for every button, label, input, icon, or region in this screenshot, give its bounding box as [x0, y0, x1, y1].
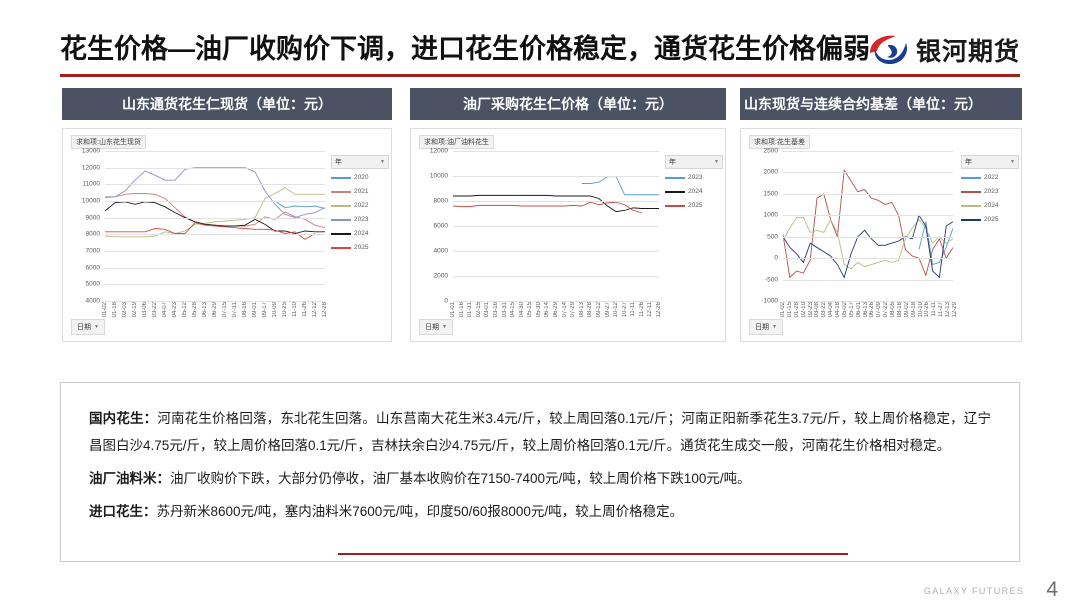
y-tick-label: 8000	[434, 198, 448, 205]
series-line-2023	[582, 177, 659, 195]
gridline	[783, 237, 953, 238]
x-tick-label: 03-31	[502, 302, 508, 317]
x-tick-label: 11-26	[302, 302, 308, 317]
legend-item-2022[interactable]: 2022	[961, 174, 1019, 181]
y-tick-label: 6000	[86, 264, 100, 271]
x-tick-label: 09-27	[605, 302, 611, 317]
panel-title-2: 油厂采购花生仁价格（单位：元）	[410, 88, 726, 120]
logo-text: 银河期货	[916, 32, 1020, 68]
legend-item-2022[interactable]: 2022	[331, 202, 389, 209]
legend-item-2023[interactable]: 2023	[961, 188, 1019, 195]
gridline	[453, 276, 659, 277]
legend-swatch	[961, 191, 981, 193]
y-tick-label: 7000	[86, 248, 100, 255]
legend-filter-label-2: 年	[669, 157, 676, 167]
legend-1: 年 ▼ 202020212022202320242025	[331, 155, 389, 258]
legend-3: 年 ▼ 2022202320242025	[961, 155, 1019, 230]
commentary-label-oilmill: 油厂油料米：	[89, 471, 170, 486]
x-tick-label: 07-29	[570, 302, 576, 317]
lines-3	[783, 151, 953, 301]
chart-container-2: 求和项:油厂油料花生 120001000080006000400020000 0…	[410, 128, 726, 342]
x-tick-label: 11-27	[938, 302, 944, 317]
grid-area-2	[453, 151, 659, 301]
commentary-paragraph-domestic: 国内花生：河南花生价格回落，东北花生回落。山东莒南大花生米3.4元/斤，较上周回…	[89, 405, 991, 459]
chevron-down-icon: ▼	[94, 324, 99, 330]
legend-swatch	[331, 191, 351, 193]
x-tick-label: 01-18	[112, 302, 118, 317]
legend-item-2024[interactable]: 2024	[331, 230, 389, 237]
commentary-text-domestic: 河南花生价格回落，东北花生回落。山东莒南大花生米3.4元/斤，较上周回落0.1元…	[89, 411, 991, 453]
x-tick-label: 10-09	[272, 302, 278, 317]
legend-label: 2022	[354, 202, 368, 209]
legend-label: 2020	[354, 174, 368, 181]
x-tick-label: 06-29	[212, 302, 218, 317]
legend-swatch	[331, 177, 351, 179]
x-tick-label: 11-11	[630, 302, 636, 316]
date-filter-label-2: 日期	[425, 322, 439, 332]
x-tick-label: 12-26	[656, 302, 662, 317]
x-tick-label: 03-08	[814, 302, 820, 317]
x-tick-label: 04-23	[172, 302, 178, 317]
date-filter-1[interactable]: 日期 ▼	[71, 319, 105, 335]
gridline	[783, 280, 953, 281]
x-tick-label: 02-23	[808, 302, 814, 317]
x-tick-label: 07-31	[232, 302, 238, 317]
x-tick-label: 03-06	[142, 302, 148, 317]
legend-filter-label-3: 年	[965, 157, 972, 167]
panel-shandong-spot: 山东通货花生仁现货（单位：元） 求和项:山东花生现货 1300012000110…	[62, 88, 392, 342]
x-tick-label: 05-17	[849, 302, 855, 317]
legend-filter-label-1: 年	[335, 157, 342, 167]
legend-label: 2024	[354, 230, 368, 237]
x-tick-label: 05-28	[192, 302, 198, 317]
legend-filter-1[interactable]: 年 ▼	[331, 155, 389, 169]
x-tick-label: 04-18	[835, 302, 841, 317]
legend-label: 2025	[984, 216, 998, 223]
slide-header: 花生价格—油厂收购价下调，进口花生价格稳定，通货花生价格偏弱 银河期货	[60, 26, 1020, 72]
x-tick-label: 01-16	[459, 302, 465, 317]
gridline	[105, 251, 325, 252]
series-line-2024	[783, 217, 953, 268]
legend-label: 2025	[688, 202, 702, 209]
y-axis-2: 120001000080006000400020000	[417, 151, 451, 301]
legend-2: 年 ▼ 202320242025	[665, 155, 723, 216]
chevron-down-icon: ▼	[442, 324, 447, 330]
x-tick-label: 03-22	[821, 302, 827, 317]
chevron-down-icon: ▼	[772, 324, 777, 330]
date-filter-label-1: 日期	[77, 322, 91, 332]
x-tick-label: 11-26	[639, 302, 645, 317]
gridline	[453, 176, 659, 177]
x-tick-label: 01-02	[102, 302, 108, 317]
gridline	[105, 268, 325, 269]
legend-label: 2023	[354, 216, 368, 223]
slide: 花生价格—油厂收购价下调，进口花生价格稳定，通货花生价格偏弱 银河期货 山东通货…	[0, 0, 1080, 608]
y-tick-label: 5000	[86, 281, 100, 288]
pivot-title-3: 求和项:花生基差	[749, 135, 810, 149]
legend-swatch	[331, 205, 351, 207]
y-tick-label: 10000	[82, 198, 100, 205]
series-line-2020	[275, 201, 325, 209]
x-tick-label: 12-29	[952, 302, 958, 317]
legend-label: 2025	[354, 244, 368, 251]
legend-label: 2024	[688, 188, 702, 195]
gridline	[105, 151, 325, 152]
x-tick-label: 06-14	[544, 302, 550, 317]
legend-filter-2[interactable]: 年 ▼	[665, 155, 723, 169]
x-tick-label: 10-27	[622, 302, 628, 317]
x-tick-label: 10-25	[282, 302, 288, 317]
y-tick-label: 6000	[434, 223, 448, 230]
chart-container-3: 求和项:花生基差 25002000150010005000-500-1000 0…	[740, 128, 1022, 342]
commentary-paragraph-import: 进口花生：苏丹新米8600元/吨，塞内油料米7600元/吨，印度50/60报80…	[89, 498, 991, 525]
gridline	[105, 284, 325, 285]
y-tick-label: 500	[767, 233, 778, 240]
legend-swatch	[961, 205, 981, 207]
legend-label: 2023	[688, 174, 702, 181]
legend-swatch	[331, 219, 351, 221]
lines-1	[105, 151, 325, 301]
x-tick-label: 05-30	[536, 302, 542, 317]
company-logo: 银河期货	[866, 28, 1020, 72]
y-tick-label: 2500	[764, 148, 778, 155]
slide-footer: GALAXY FUTURES 4	[924, 579, 1058, 600]
y-tick-label: 12000	[82, 164, 100, 171]
date-filter-2[interactable]: 日期 ▼	[419, 319, 453, 335]
y-tick-label: 2000	[434, 273, 448, 280]
gridline	[783, 172, 953, 173]
legend-swatch	[331, 233, 351, 235]
x-tick-label: 01-02	[780, 302, 786, 317]
commentary-paragraph-oilmill: 油厂油料米：油厂收购价下跌，大部分仍停收，油厂基本收购价在7150-7400元/…	[89, 465, 991, 492]
date-filter-3[interactable]: 日期 ▼	[749, 319, 783, 335]
legend-swatch	[665, 205, 685, 207]
commentary-label-domestic: 国内花生：	[89, 411, 157, 426]
x-tick-label: 08-13	[579, 302, 585, 317]
gridline	[105, 234, 325, 235]
legend-item-2025[interactable]: 2025	[331, 244, 389, 251]
y-tick-label: 12000	[430, 148, 448, 155]
x-tick-label: 04-04	[828, 302, 834, 317]
chart-container-1: 求和项:山东花生现货 13000120001100010000900080007…	[62, 128, 392, 342]
gridline	[453, 226, 659, 227]
x-tick-label: 05-15	[527, 302, 533, 317]
date-filter-label-3: 日期	[755, 322, 769, 332]
x-tick-label: 04-07	[162, 302, 168, 317]
legend-filter-3[interactable]: 年 ▼	[961, 155, 1019, 169]
legend-item-2025[interactable]: 2025	[665, 202, 723, 209]
x-tick-label: 12-13	[945, 302, 951, 317]
x-tick-label: 01-01	[450, 302, 456, 317]
gridline	[105, 201, 325, 202]
gridline	[453, 151, 659, 152]
x-tick-label: 07-22	[883, 302, 889, 317]
x-tick-label: 09-18	[911, 302, 917, 317]
x-tick-label: 09-01	[252, 302, 258, 317]
x-tick-label: 10-12	[613, 302, 619, 317]
y-tick-label: 13000	[82, 148, 100, 155]
x-tick-label: 12-28	[322, 302, 328, 317]
y-tick-label: 11000	[82, 181, 100, 188]
x-tick-label: 01-28	[794, 302, 800, 317]
gridline	[105, 184, 325, 185]
gridline	[105, 168, 325, 169]
x-tick-label: 12-12	[312, 302, 318, 317]
x-tick-label: 05-12	[182, 302, 188, 317]
x-tick-label: 08-05	[890, 302, 896, 317]
series-line-2024	[453, 195, 659, 211]
x-tick-label: 02-19	[132, 302, 138, 317]
y-tick-label: 1500	[764, 190, 778, 197]
x-tick-label: 03-22	[152, 302, 158, 317]
x-tick-label: 06-29	[553, 302, 559, 317]
legend-swatch	[961, 219, 981, 221]
legend-label: 2023	[984, 188, 998, 195]
y-tick-label: 8000	[86, 231, 100, 238]
x-tick-label: 02-03	[122, 302, 128, 317]
page-number: 4	[1046, 579, 1058, 600]
footer-brand: GALAXY FUTURES	[924, 586, 1024, 600]
x-tick-label: 05-02	[842, 302, 848, 317]
commentary-box: 国内花生：河南花生价格回落，东北花生回落。山东莒南大花生米3.4元/斤，较上周回…	[60, 382, 1020, 562]
x-tick-label: 03-16	[493, 302, 499, 317]
x-tick-label: 01-31	[467, 302, 473, 317]
x-tick-label: 03-01	[484, 302, 490, 317]
x-tick-label: 11-11	[931, 302, 937, 316]
x-axis-2: 01-0101-1601-3102-1503-0103-1603-3104-15…	[453, 301, 659, 341]
x-tick-label: 07-14	[562, 302, 568, 317]
x-axis-1: 01-0201-1802-0302-1903-0603-2204-0704-23…	[105, 301, 325, 341]
y-tick-label: 2000	[764, 169, 778, 176]
chevron-down-icon: ▼	[380, 159, 385, 165]
gridline	[783, 194, 953, 195]
y-tick-label: 0	[774, 255, 778, 262]
panel-title-3: 山东现货与连续合约基差（单位：元）	[740, 88, 1022, 120]
y-tick-label: -500	[765, 276, 778, 283]
chevron-down-icon: ▼	[714, 159, 719, 165]
gridline	[783, 151, 953, 152]
legend-swatch	[665, 191, 685, 193]
legend-label: 2024	[984, 202, 998, 209]
x-tick-label: 02-15	[476, 302, 482, 317]
legend-item-2024[interactable]: 2024	[961, 202, 1019, 209]
x-axis-3: 01-0201-1501-2802-1002-2303-0803-2204-04…	[783, 301, 955, 341]
y-tick-label: 9000	[86, 214, 100, 221]
y-axis-3: 25002000150010005000-500-1000	[747, 151, 781, 301]
legend-label: 2022	[984, 174, 998, 181]
y-tick-label: 10000	[430, 173, 448, 180]
commentary-label-import: 进口花生：	[89, 504, 157, 519]
x-tick-label: 06-26	[869, 302, 875, 317]
x-tick-label: 07-15	[222, 302, 228, 317]
page-title: 花生价格—油厂收购价下调，进口花生价格稳定，通货花生价格偏弱	[60, 26, 870, 72]
y-axis-1: 1300012000110001000090008000700060005000…	[69, 151, 103, 301]
import-underline	[338, 553, 848, 555]
x-tick-label: 07-09	[876, 302, 882, 317]
commentary-text-import: 苏丹新米8600元/吨，塞内油料米7600元/吨，印度50/60报8000元/吨…	[157, 504, 684, 519]
legend-item-2025[interactable]: 2025	[961, 216, 1019, 223]
gridline	[783, 258, 953, 259]
commentary-text-oilmill: 油厂收购价下跌，大部分仍停收，油厂基本收购价在7150-7400元/吨，较上周价…	[170, 471, 751, 486]
x-tick-label: 10-10	[918, 302, 924, 317]
x-tick-label: 04-30	[519, 302, 525, 317]
x-tick-label: 08-28	[587, 302, 593, 317]
x-tick-label: 01-15	[787, 302, 793, 317]
x-tick-label: 10-26	[924, 302, 930, 317]
legend-swatch	[961, 177, 981, 179]
y-tick-label: 4000	[86, 298, 100, 305]
gridline	[105, 218, 325, 219]
x-tick-label: 06-13	[863, 302, 869, 317]
x-tick-label: 04-15	[510, 302, 516, 317]
grid-area-3	[783, 151, 953, 301]
x-tick-label: 06-01	[856, 302, 862, 317]
legend-item-2023[interactable]: 2023	[331, 216, 389, 223]
legend-item-2020[interactable]: 2020	[331, 174, 389, 181]
gridline	[453, 251, 659, 252]
legend-item-2024[interactable]: 2024	[665, 188, 723, 195]
title-divider	[60, 74, 1020, 77]
legend-item-2021[interactable]: 2021	[331, 188, 389, 195]
series-line-2022	[105, 188, 325, 237]
grid-area-1	[105, 151, 325, 301]
legend-label: 2021	[354, 188, 368, 195]
gridline	[783, 215, 953, 216]
chart-panels: 山东通货花生仁现货（单位：元） 求和项:山东花生现货 1300012000110…	[62, 88, 1022, 348]
gridline	[453, 201, 659, 202]
chevron-down-icon: ▼	[1010, 159, 1015, 165]
x-tick-label: 08-18	[897, 302, 903, 317]
panel-basis: 山东现货与连续合约基差（单位：元） 求和项:花生基差 2500200015001…	[740, 88, 1022, 342]
panel-oilmill-purchase: 油厂采购花生仁价格（单位：元） 求和项:油厂油料花生 1200010000800…	[410, 88, 726, 342]
legend-swatch	[331, 247, 351, 249]
x-tick-label: 08-16	[242, 302, 248, 317]
y-tick-label: 1000	[764, 212, 778, 219]
y-tick-label: -1000	[761, 298, 778, 305]
panel-title-1: 山东通货花生仁现货（单位：元）	[62, 88, 392, 120]
legend-swatch	[665, 177, 685, 179]
x-tick-label: 02-10	[801, 302, 807, 317]
y-tick-label: 0	[444, 298, 448, 305]
x-tick-label: 09-02	[904, 302, 910, 317]
x-tick-label: 12-11	[647, 302, 653, 317]
series-line-2023	[783, 170, 953, 277]
galaxy-swoosh-icon	[866, 33, 910, 67]
x-tick-label: 11-10	[292, 302, 298, 317]
y-tick-label: 4000	[434, 248, 448, 255]
legend-item-2023[interactable]: 2023	[665, 174, 723, 181]
series-line-2025	[453, 202, 642, 213]
x-tick-label: 09-12	[596, 302, 602, 317]
x-tick-label: 06-13	[202, 302, 208, 317]
series-line-2021	[105, 193, 325, 227]
x-tick-label: 09-17	[262, 302, 268, 317]
